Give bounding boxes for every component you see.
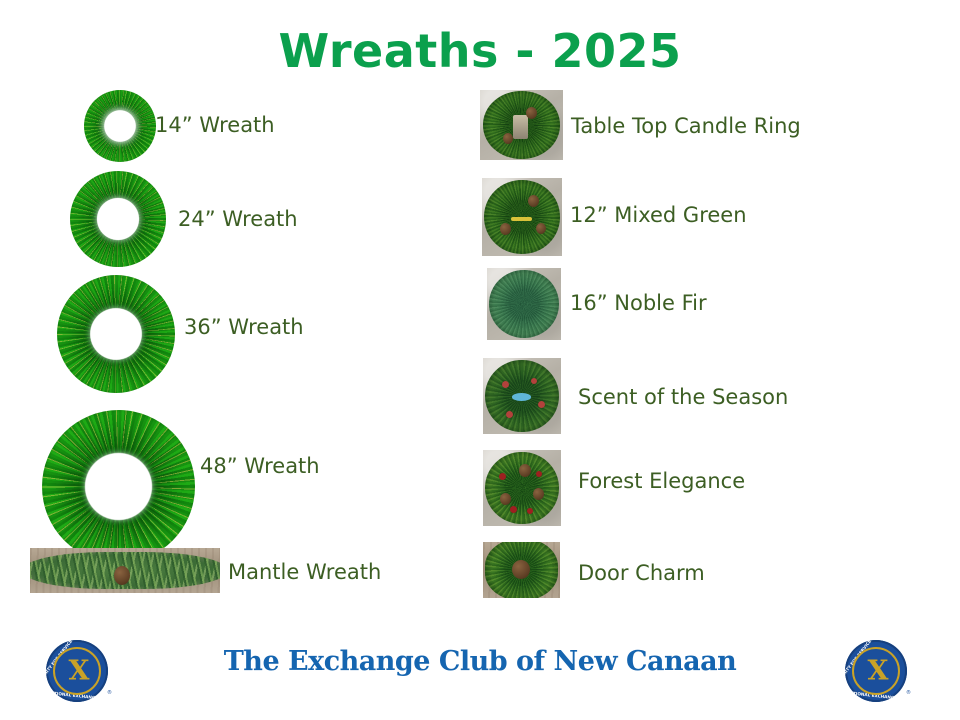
pinecone-icon xyxy=(533,488,544,500)
table-top-candle-ring-image xyxy=(480,90,563,160)
forest-elegance-image xyxy=(483,450,561,526)
noble-fir-wreath-image xyxy=(487,268,561,340)
registered-mark: ® xyxy=(107,690,112,696)
wreath-ring xyxy=(489,270,559,338)
page-title: Wreaths - 2025 xyxy=(0,28,960,74)
candle-icon xyxy=(513,115,528,139)
wreath-ring xyxy=(485,452,558,523)
berry-icon xyxy=(502,381,509,388)
wreath-label-14in: 14” Wreath xyxy=(155,115,275,136)
noble-fir-wreath-label: 16” Noble Fir xyxy=(570,293,707,314)
ribbon-icon xyxy=(511,217,532,221)
pinecone-icon xyxy=(500,493,511,505)
wreath-image-36in xyxy=(57,275,175,393)
table-top-candle-ring-label: Table Top Candle Ring xyxy=(571,116,801,137)
scent-of-the-season-label: Scent of the Season xyxy=(578,387,788,408)
door-charm-label: Door Charm xyxy=(578,563,705,584)
pinecone-icon xyxy=(500,223,511,235)
logo-x-monogram: X xyxy=(868,658,885,685)
ribbon-icon xyxy=(512,393,531,401)
berry-icon xyxy=(499,473,506,480)
mantle-wreath-label: Mantle Wreath xyxy=(228,562,381,583)
wreath-image-14in xyxy=(84,90,156,162)
pinecone-icon xyxy=(526,107,537,119)
wreath-image-24in xyxy=(70,171,166,267)
pinecone-icon xyxy=(519,464,531,477)
berry-icon xyxy=(538,401,545,408)
pinecone-icon xyxy=(114,566,130,585)
wreath-label-24in: 24” Wreath xyxy=(178,209,298,230)
exchange-club-logo-right: UNITY FOR SERVICE NATIONAL EXCHANGE CLUB… xyxy=(845,640,907,702)
wreath-label-36in: 36” Wreath xyxy=(184,317,304,338)
mixed-green-wreath-label: 12” Mixed Green xyxy=(570,205,747,226)
registered-mark: ® xyxy=(906,690,911,696)
wreath-label-48in: 48” Wreath xyxy=(200,456,320,477)
scent-of-the-season-image xyxy=(483,358,561,434)
mantle-wreath-image xyxy=(30,548,220,593)
wreath-image-48in xyxy=(42,410,195,563)
organization-name: The Exchange Club of New Canaan xyxy=(0,648,960,675)
slide-canvas: Wreaths - 2025 14” Wreath 24” Wreath 36”… xyxy=(0,0,960,720)
forest-elegance-label: Forest Elegance xyxy=(578,471,745,492)
mixed-green-wreath-image xyxy=(482,178,562,256)
berry-icon xyxy=(510,506,517,513)
door-charm-image xyxy=(483,542,560,598)
berry-icon xyxy=(527,508,533,514)
